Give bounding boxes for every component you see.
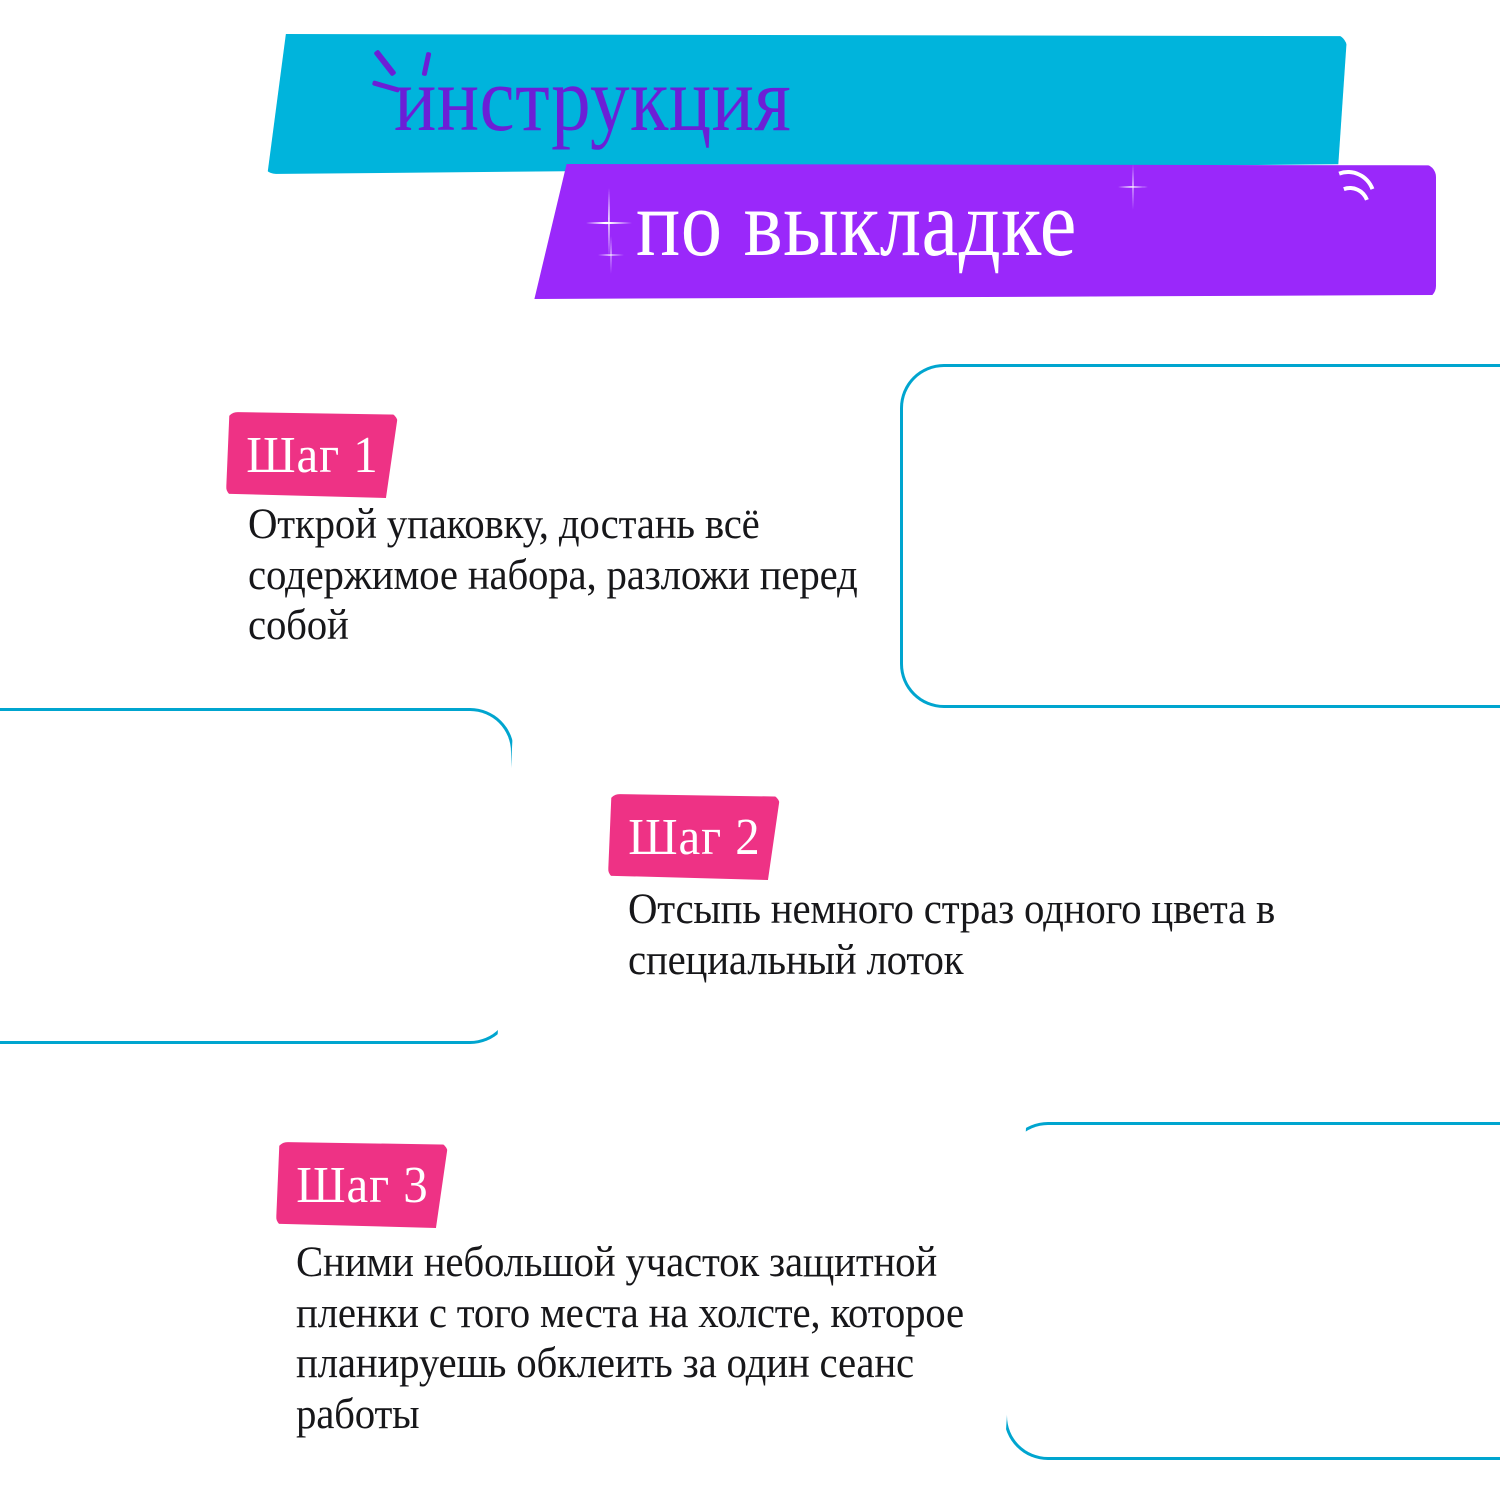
step-card-border-2 — [0, 708, 514, 1044]
header-banner-purple: по выкладке — [516, 164, 1436, 299]
step-badge-3: Шаг 3 — [276, 1142, 448, 1228]
header-title-line2: по выкладке — [636, 170, 1077, 278]
step-badge-3-label: Шаг 3 — [296, 1156, 428, 1215]
sparkle-star-icon — [598, 236, 624, 274]
step-card-border-3 — [1004, 1122, 1500, 1460]
step-image-card-3 — [1004, 1122, 1500, 1460]
header-title-line1: инструкция — [394, 46, 791, 152]
step-text-1: Открой упаковку, достань всё содержимое … — [248, 500, 894, 652]
sparkle-star-icon — [1118, 164, 1148, 210]
step-image-card-1 — [900, 364, 1500, 708]
step-badge-2: Шаг 2 — [608, 794, 780, 880]
step-badge-1-label: Шаг 1 — [246, 426, 378, 485]
step-text-3: Сними небольшой участок защитной пленки … — [296, 1238, 980, 1441]
step-badge-2-label: Шаг 2 — [628, 808, 760, 867]
step-card-border-1 — [900, 364, 1500, 708]
step-text-2: Отсыпь немного страз одного цвета в спец… — [628, 885, 1293, 986]
step-image-card-2 — [0, 708, 514, 1044]
step-badge-1: Шаг 1 — [226, 412, 398, 498]
infographic-page: инструкция по выкладке Шаг 1 Открой упак… — [0, 0, 1500, 1500]
